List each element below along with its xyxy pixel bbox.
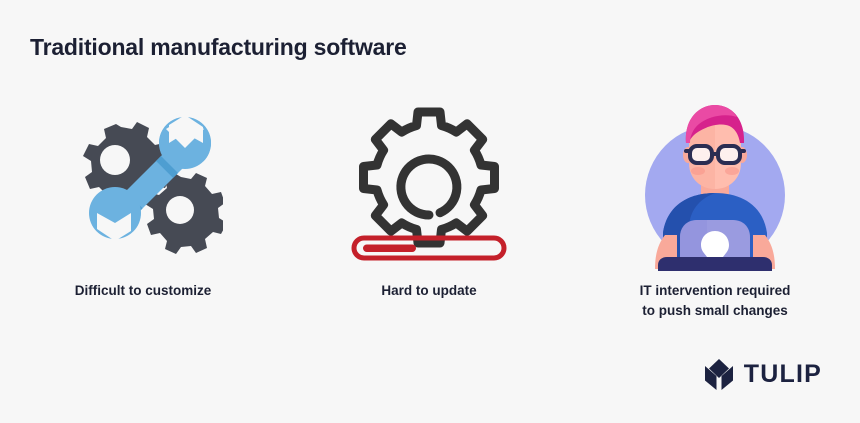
feature-card-it-intervention: IT intervention required to push small c… (572, 95, 858, 320)
page-title: Traditional manufacturing software (30, 34, 407, 61)
gear-progress-icon-slot (339, 95, 519, 275)
feature-card-label: IT intervention required to push small c… (640, 281, 791, 320)
gear-with-progress-bar-icon (344, 103, 514, 268)
feature-card-label-line1: IT intervention required (640, 281, 791, 301)
tulip-logo: TULIP (703, 358, 822, 391)
feature-card-label-line2: to push small changes (640, 301, 791, 321)
tulip-cube-icon (703, 358, 735, 391)
gear-top-left-hole (100, 145, 130, 175)
wrench-and-gears-icon-slot (53, 95, 233, 275)
feature-card-row: Difficult to customize (0, 95, 860, 340)
progress-bar-fill (363, 244, 416, 252)
feature-card-hard-to-update: Hard to update (286, 95, 572, 301)
cheek-left (691, 167, 705, 175)
gear-bottom-right-hole (166, 196, 194, 224)
feature-card-label-line1: Difficult to customize (75, 281, 212, 301)
cheek-right (725, 167, 739, 175)
wrench-and-gears-icon (63, 105, 223, 265)
feature-card-label-line1: Hard to update (381, 281, 476, 301)
person-at-laptop-icon (628, 95, 803, 275)
feature-card-label: Difficult to customize (75, 281, 212, 301)
feature-card-label: Hard to update (381, 281, 476, 301)
person-at-laptop-icon-slot (625, 95, 805, 275)
laptop-base (658, 257, 772, 271)
gear-outline-icon (364, 112, 495, 243)
tulip-logo-text: TULIP (744, 360, 822, 389)
feature-card-difficult-to-customize: Difficult to customize (0, 95, 286, 301)
slide-canvas: Traditional manufacturing software (0, 0, 860, 423)
